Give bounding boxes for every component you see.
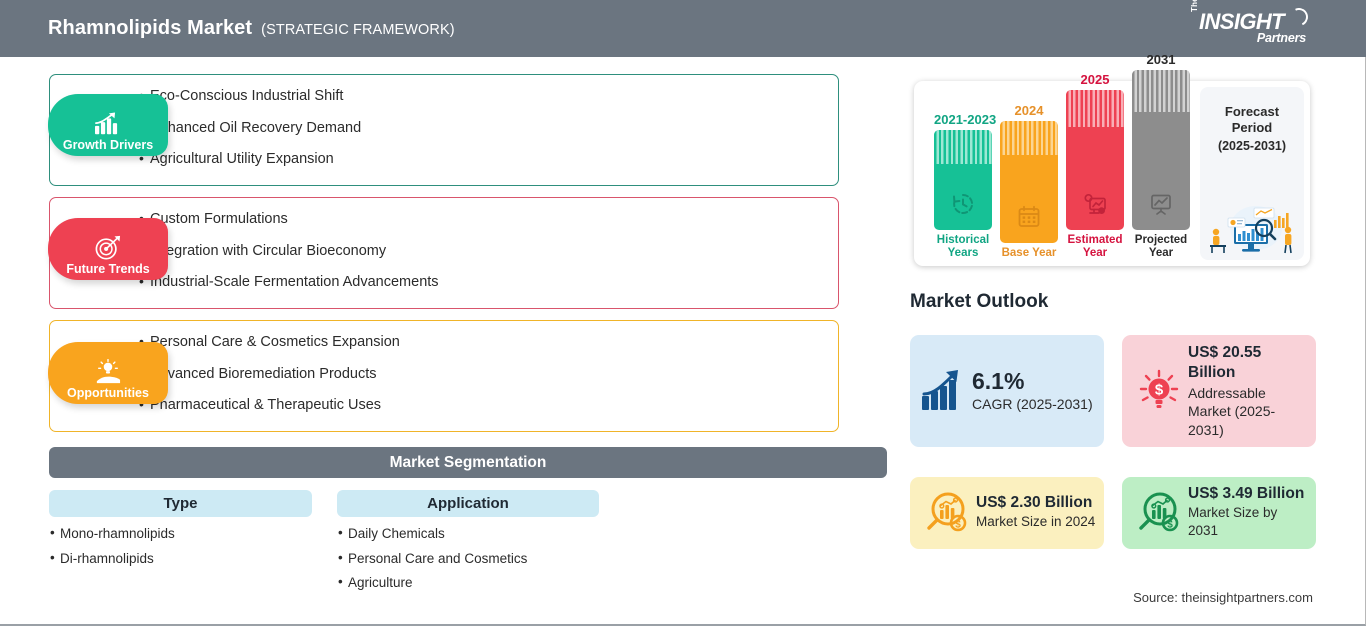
badge-label: Growth Drivers [63,139,153,152]
outlook-card-label: CAGR (2025-2031) [972,395,1093,413]
outlook-card-cagr[interactable]: 6.1% CAGR (2025-2031) [910,335,1104,447]
list-item: Agriculture [348,576,599,590]
outlook-card-label: Market Size in 2024 [976,513,1095,531]
lightbulb-dollar-icon: $ [1136,368,1182,414]
segmentation-list-type: Mono-rhamnolipids Di-rhamnolipids [49,527,312,565]
section-growth-drivers: Eco-Conscious Industrial Shift Enhanced … [0,74,890,186]
list-item: Custom Formulations [150,212,838,227]
bar-category-label: Base Year [1000,247,1058,260]
list-item: Personal Care & Cosmetics Expansion [150,335,838,350]
badge-growth-drivers[interactable]: Growth Drivers [48,94,168,156]
badge-opportunities[interactable]: Opportunities [48,342,168,404]
badge-future-trends[interactable]: Future Trends [48,218,168,280]
target-dart-icon [93,235,123,261]
svg-text:$: $ [1155,382,1164,399]
chart-gear-icon [1083,192,1107,216]
future-trends-list: Custom Formulations Integration with Cir… [50,198,838,304]
clock-rewind-icon [951,192,975,216]
bar-category-label: Estimated Year [1066,234,1124,260]
bar-year-label: 2025 [1066,72,1124,87]
bar-year-label: 2024 [1000,103,1058,118]
outlook-card-market-size-2031[interactable]: $ US$ 3.49 Billion Market Size by 2031 [1122,477,1316,549]
bar-chart-arrow-icon [920,368,966,414]
page-subtitle: (STRATEGIC FRAMEWORK) [261,22,455,38]
bar-stripe-top [1132,70,1190,112]
logo-swoosh-icon [1287,5,1310,28]
segmentation-header-type: Type [49,490,312,517]
list-item: Daily Chemicals [348,527,599,541]
presentation-board-icon [1149,192,1173,216]
forecast-period-line1: Forecast [1200,104,1304,120]
logo-the-text: The [1190,0,1199,12]
forecast-period-years: (2025-2031) [1200,139,1304,153]
bar-historical-years [934,130,992,230]
insight-partners-logo: The INSIGHT Partners [1190,8,1308,50]
bar-group-base-year: 2024 Base Year [1000,103,1058,260]
bar-stripe-top [1000,121,1058,155]
bar-projected-year [1132,70,1190,230]
outlook-card-value: US$ 3.49 Billion [1188,486,1308,502]
segmentation-column-application: Application Daily Chemicals Personal Car… [337,490,599,601]
list-item: Di-rhamnolipids [60,552,312,566]
bar-base-year [1000,121,1058,243]
bar-year-label: 2031 [1132,52,1190,67]
segmentation-header-label: Application [427,495,509,512]
chart-bars: 2021-2023 Historical Years 2024 [930,81,1200,266]
dashboard-analysis-illustration [1204,194,1300,256]
outlook-card-market-size-2024[interactable]: $ US$ 2.30 Billion Market Size in 2024 [910,477,1104,549]
bar-estimated-year [1066,90,1124,230]
magnifier-chart-dollar-icon: $ [1136,490,1182,536]
list-item: Integration with Circular Bioeconomy [150,244,838,259]
infographic-page: Rhamnolipids Market(STRATEGIC FRAMEWORK)… [0,0,1366,626]
outlook-card-label: Addressable Market (2025-2031) [1188,384,1308,439]
outlook-card-text: 6.1% CAGR (2025-2031) [972,369,1101,414]
bar-category-label: Historical Years [934,234,992,260]
list-item: Eco-Conscious Industrial Shift [150,89,838,104]
bar-year-label: 2021-2023 [934,112,992,127]
bar-stripe-top [1066,90,1124,127]
page-title: Rhamnolipids Market(STRATEGIC FRAMEWORK) [48,17,455,40]
bar-category-label: Projected Year [1132,234,1190,260]
segmentation-list-application: Daily Chemicals Personal Care and Cosmet… [337,527,599,590]
outlook-card-label: Market Size by 2031 [1188,504,1308,540]
logo-partners-text: Partners [1257,31,1306,45]
market-outlook-title: Market Outlook [910,291,1048,313]
calendar-icon [1017,205,1041,229]
list-item: Industrial-Scale Fermentation Advancemen… [150,275,838,290]
outlook-card-addressable-market[interactable]: $ US$ 20.55 Billion Addressable Market (… [1122,335,1316,447]
magnifier-chart-dollar-icon: $ [924,490,970,536]
segmentation-header-label: Type [164,495,198,512]
market-segmentation-title: Market Segmentation [390,454,547,472]
outlook-card-text: US$ 20.55 Billion Addressable Market (20… [1188,343,1316,439]
outlook-card-text: US$ 3.49 Billion Market Size by 2031 [1188,486,1316,540]
forecast-timeline-chart: 2021-2023 Historical Years 2024 [914,81,1310,266]
list-item: Advanced Bioremediation Products [150,367,838,382]
section-opportunities: Personal Care & Cosmetics Expansion Adva… [0,320,890,432]
section-future-trends: Custom Formulations Integration with Cir… [0,197,890,309]
forecast-period-panel: Forecast Period (2025-2031) [1200,87,1304,260]
outlook-card-text: US$ 2.30 Billion Market Size in 2024 [976,495,1103,531]
forecast-period-title: Forecast Period [1200,104,1304,137]
svg-text:$: $ [1167,520,1173,531]
forecast-period-line2: Period [1200,120,1304,136]
page-title-text: Rhamnolipids Market [48,17,252,39]
outlook-card-value: 6.1% [972,369,1093,393]
source-attribution: Source: theinsightpartners.com [1133,590,1313,605]
market-segmentation-header: Market Segmentation [49,447,887,478]
list-item: Personal Care and Cosmetics [348,552,599,566]
lightbulb-hand-icon [93,359,123,385]
outlook-card-value: US$ 20.55 Billion [1188,343,1308,382]
segmentation-column-type: Type Mono-rhamnolipids Di-rhamnolipids [49,490,312,576]
bar-group-historical-years: 2021-2023 Historical Years [934,112,992,260]
outlook-card-value: US$ 2.30 Billion [976,495,1095,511]
badge-label: Future Trends [66,263,149,276]
list-item: Pharmaceutical & Therapeutic Uses [150,398,838,413]
bar-group-estimated-year: 2025 Estimated Year [1066,72,1124,260]
list-item: Enhanced Oil Recovery Demand [150,121,838,136]
segmentation-header-application: Application [337,490,599,517]
bar-stripe-top [934,130,992,164]
list-item: Mono-rhamnolipids [60,527,312,541]
bar-group-projected-year: 2031 Projected Year [1132,52,1190,260]
growth-drivers-list: Eco-Conscious Industrial Shift Enhanced … [50,75,838,181]
svg-text:$: $ [955,520,961,531]
page-header: Rhamnolipids Market(STRATEGIC FRAMEWORK)… [0,0,1366,57]
list-item: Agricultural Utility Expansion [150,152,838,167]
bar-chart-arrow-icon [93,111,123,137]
opportunities-list: Personal Care & Cosmetics Expansion Adva… [50,321,838,427]
badge-label: Opportunities [67,387,149,400]
